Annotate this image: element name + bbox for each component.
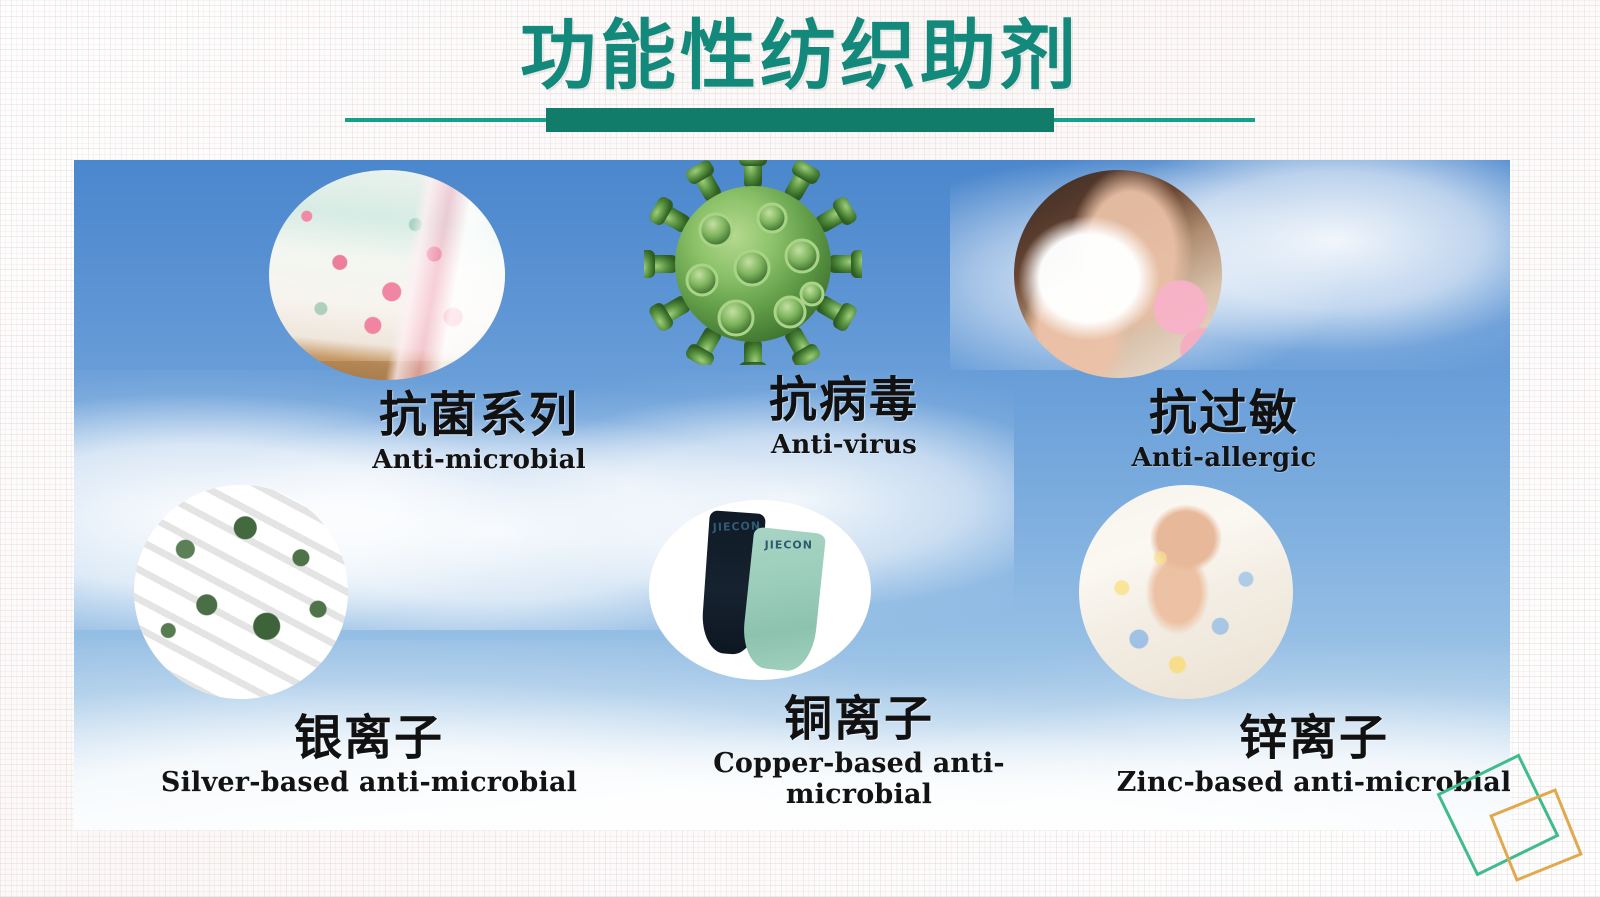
feature-label-cn: 铜离子 xyxy=(649,694,1069,744)
feature-media xyxy=(134,485,604,699)
sock-light: JIECON xyxy=(740,527,826,674)
feature-media xyxy=(644,160,1044,365)
feature-zinc-ion[interactable]: 锌离子 Zinc-based anti-microbial xyxy=(1079,485,1510,798)
feature-panel: 抗菌系列 Anti-microbial xyxy=(74,160,1510,830)
woven-fabric-photo-icon xyxy=(134,485,348,699)
feature-anti-virus[interactable]: 抗病毒 Anti-virus xyxy=(644,160,1044,461)
sneezing-woman-photo-icon xyxy=(1014,170,1222,378)
feature-label-en: Zinc-based anti-microbial xyxy=(1079,767,1510,798)
feature-label-cn: 银离子 xyxy=(134,713,604,763)
feature-label-en: Anti-microbial xyxy=(269,446,689,476)
feature-media: JIECON JIECON xyxy=(649,500,1069,680)
feature-media xyxy=(1014,170,1434,378)
sock-brand-label: JIECON xyxy=(753,538,825,551)
feature-label-en: Silver-based anti-microbial xyxy=(134,767,604,798)
slide-canvas: 功能性纺织助剂 抗菌系列 Anti-microbial xyxy=(0,0,1600,897)
baby-in-towel-photo-icon xyxy=(1079,485,1293,699)
feature-label-en: Copper-based anti-microbial xyxy=(649,748,1069,810)
title-divider xyxy=(345,118,1255,122)
feature-silver-ion[interactable]: 银离子 Silver-based anti-microbial xyxy=(134,485,604,798)
socks-photo-icon: JIECON JIECON xyxy=(649,500,871,680)
bedding-photo-icon xyxy=(269,170,505,380)
slide-header: 功能性纺织助剂 xyxy=(0,0,1600,150)
feature-label-en: Anti-allergic xyxy=(1014,444,1434,474)
feature-media xyxy=(1079,485,1510,699)
feature-label-en: Anti-virus xyxy=(644,431,1044,461)
feature-label-cn: 抗病毒 xyxy=(644,375,1044,425)
page-title: 功能性纺织助剂 xyxy=(0,6,1600,106)
virus-photo-icon xyxy=(644,160,862,365)
feature-copper-ion[interactable]: JIECON JIECON 铜离子 Copper-based anti-micr… xyxy=(649,500,1069,810)
feature-label-cn: 锌离子 xyxy=(1079,713,1510,763)
feature-media xyxy=(269,170,689,380)
feature-label-cn: 抗菌系列 xyxy=(269,390,689,440)
feature-anti-allergic[interactable]: 抗过敏 Anti-allergic xyxy=(1014,170,1434,474)
feature-label-cn: 抗过敏 xyxy=(1014,388,1434,438)
feature-anti-microbial[interactable]: 抗菌系列 Anti-microbial xyxy=(269,170,689,476)
divider-center-block xyxy=(546,108,1054,132)
